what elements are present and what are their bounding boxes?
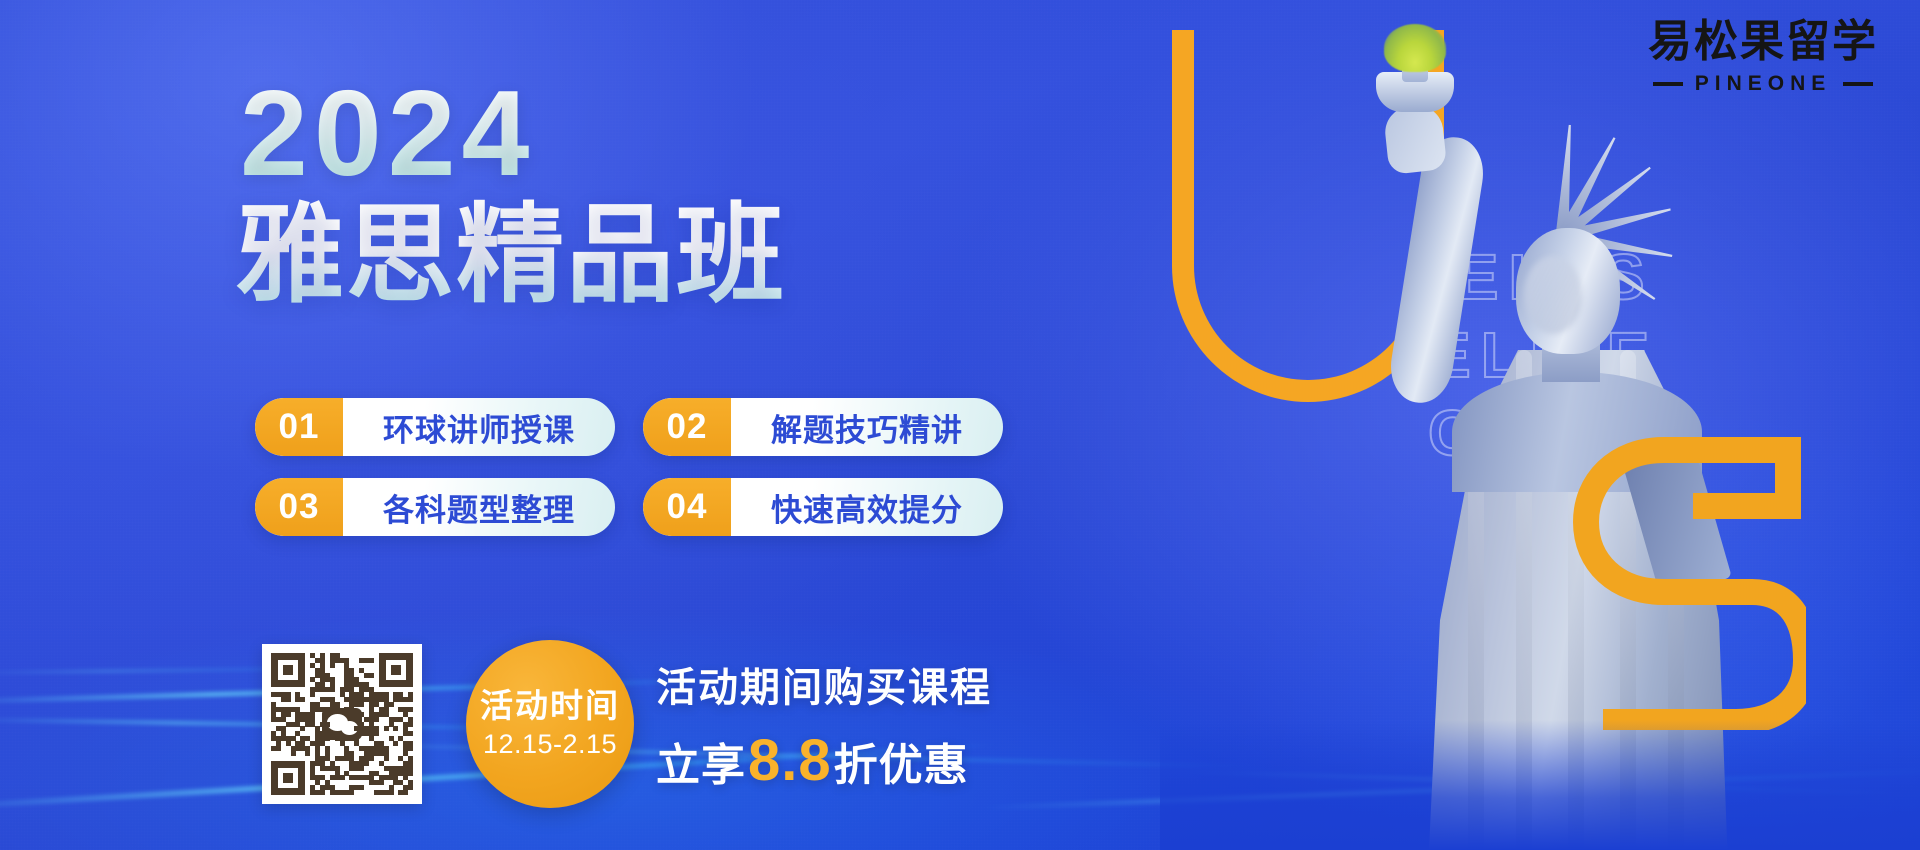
qr-code-matrix [271, 653, 413, 795]
promo-section: 活动时间 12.15-2.15 活动期间购买课程 立享 8.8 折优惠 [262, 640, 992, 808]
promo-suffix: 折优惠 [834, 729, 969, 793]
dash-left-icon [1653, 82, 1683, 86]
feature-tag-list: 01 环球讲师授课 02 解题技巧精讲 03 各科题型整理 04 快速高效提分 [255, 398, 1003, 536]
promo-banner: IELTS ELITE CLASS [0, 0, 1920, 850]
feature-tag-label: 环球讲师授课 [343, 398, 615, 456]
feature-tag[interactable]: 01 环球讲师授课 [255, 398, 615, 456]
event-date-title: 活动时间 [480, 688, 620, 724]
feature-tag[interactable]: 04 快速高效提分 [643, 478, 1003, 536]
statue-hand [1383, 103, 1448, 175]
qr-finder-pattern [271, 653, 305, 687]
promo-line-2: 立享 8.8 折优惠 [656, 729, 992, 793]
discount-value: 8.8 [748, 732, 832, 790]
feature-tag[interactable]: 02 解题技巧精讲 [643, 398, 1003, 456]
torch-flame-icon [1384, 24, 1446, 72]
event-date-badge: 活动时间 12.15-2.15 [466, 640, 634, 808]
statue-arm [1385, 133, 1488, 407]
brand-name-cn: 易松果留学 [1648, 18, 1878, 66]
feature-tag-number: 03 [255, 478, 343, 536]
headline-year: 2024 [240, 72, 535, 194]
decorative-letter-s-icon [1556, 410, 1806, 730]
event-date-range: 12.15-2.15 [483, 729, 617, 760]
feature-tag-label: 各科题型整理 [343, 478, 615, 536]
statue-face-shading [1524, 256, 1582, 334]
artwork-bottom-fade [1160, 720, 1920, 850]
feature-tag-label: 解题技巧精讲 [731, 398, 1003, 456]
promo-prefix: 立享 [656, 729, 746, 793]
hero-artwork: IELTS ELITE CLASS [1160, 0, 1920, 850]
feature-tag-label: 快速高效提分 [731, 478, 1003, 536]
wechat-qr-code[interactable] [262, 644, 422, 804]
feature-tag-number: 01 [255, 398, 343, 456]
promo-line-1: 活动期间购买课程 [656, 655, 992, 713]
brand-name-en: PINEONE [1695, 72, 1832, 96]
feature-tag-number: 04 [643, 478, 731, 536]
qr-finder-pattern [271, 761, 305, 795]
main-content: 2024 雅思精品班 01 环球讲师授课 02 解题技巧精讲 03 各科题型整理… [0, 0, 1100, 850]
feature-tag-number: 02 [643, 398, 731, 456]
brand-name-en-row: PINEONE [1648, 72, 1878, 96]
brand-logo[interactable]: 易松果留学 PINEONE [1648, 18, 1878, 96]
qr-finder-pattern [379, 653, 413, 687]
feature-tag[interactable]: 03 各科题型整理 [255, 478, 615, 536]
headline-title: 雅思精品班 [236, 198, 786, 312]
dash-right-icon [1843, 82, 1873, 86]
promo-text-block: 活动期间购买课程 立享 8.8 折优惠 [656, 655, 992, 793]
